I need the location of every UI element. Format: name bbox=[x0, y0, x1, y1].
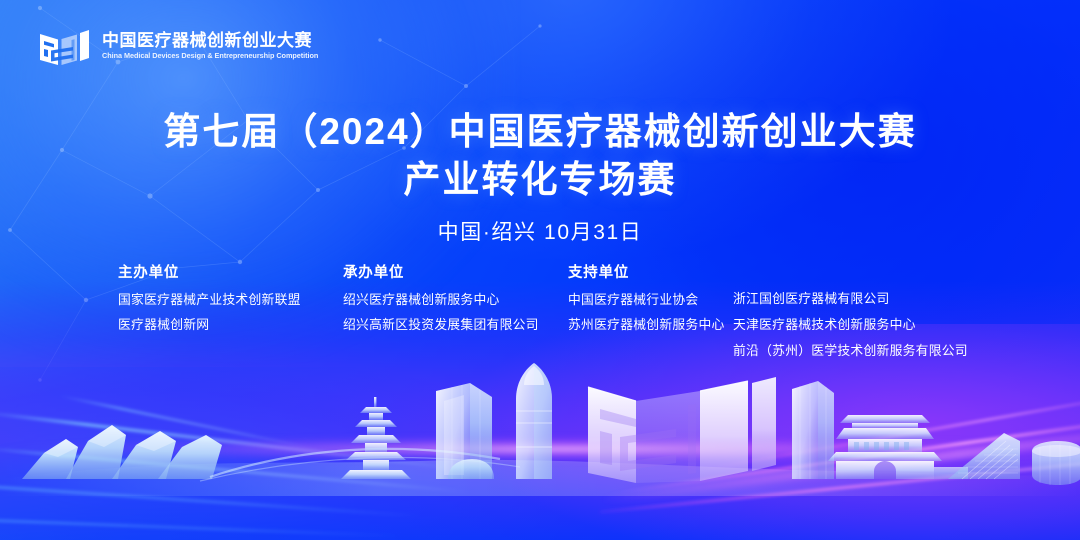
organizer-heading: 承办单位 bbox=[343, 266, 568, 281]
competition-door-logo-icon bbox=[36, 22, 92, 70]
organizer-column-host: 主办单位 国家医疗器械产业技术创新联盟 医疗器械创新网 bbox=[118, 266, 343, 345]
organizers-section: 主办单位 国家医疗器械产业技术创新联盟 医疗器械创新网 承办单位 绍兴医疗器械创… bbox=[118, 266, 998, 370]
organizer-column-supporter: 支持单位 中国医疗器械行业协会 苏州医疗器械创新服务中心 bbox=[568, 266, 733, 345]
venue-date: 中国·绍兴 10月31日 bbox=[0, 216, 1080, 246]
organizer-item: 中国医疗器械行业协会 bbox=[568, 294, 733, 307]
organizer-heading: 支持单位 bbox=[568, 266, 733, 281]
organizer-item: 绍兴高新区投资发展集团有限公司 bbox=[343, 319, 568, 332]
organizer-column-supporter-extra: 浙江国创医疗器械有限公司 天津医疗器械技术创新服务中心 前沿（苏州）医学技术创新… bbox=[733, 266, 993, 370]
brand-name-cn: 中国医疗器械创新创业大赛 bbox=[102, 32, 325, 50]
page-title: 第七届（2024）中国医疗器械创新创业大赛 bbox=[0, 108, 1080, 156]
organizer-heading: 主办单位 bbox=[118, 266, 343, 281]
organizer-item: 前沿（苏州）医学技术创新服务有限公司 bbox=[733, 345, 993, 358]
organizer-item: 医疗器械创新网 bbox=[118, 319, 343, 332]
organizer-column-organizer: 承办单位 绍兴医疗器械创新服务中心 绍兴高新区投资发展集团有限公司 bbox=[343, 266, 568, 345]
page-subtitle: 产业转化专场赛 bbox=[0, 156, 1080, 204]
hero-title-group: 第七届（2024）中国医疗器械创新创业大赛 产业转化专场赛 bbox=[0, 108, 1080, 204]
organizer-item: 苏州医疗器械创新服务中心 bbox=[568, 319, 733, 332]
organizer-item: 国家医疗器械产业技术创新联盟 bbox=[118, 294, 343, 307]
organizer-item: 绍兴医疗器械创新服务中心 bbox=[343, 294, 568, 307]
poster-canvas: 中国医疗器械创新创业大赛 China Medical Devices Desig… bbox=[0, 0, 1080, 540]
organizer-item: 浙江国创医疗器械有限公司 bbox=[733, 293, 993, 306]
brand-logo: 中国医疗器械创新创业大赛 China Medical Devices Desig… bbox=[36, 22, 325, 70]
brand-name-en: China Medical Devices Design & Entrepren… bbox=[102, 52, 318, 60]
city-skyline-illustration bbox=[0, 361, 1080, 496]
organizer-item: 天津医疗器械技术创新服务中心 bbox=[733, 319, 993, 332]
